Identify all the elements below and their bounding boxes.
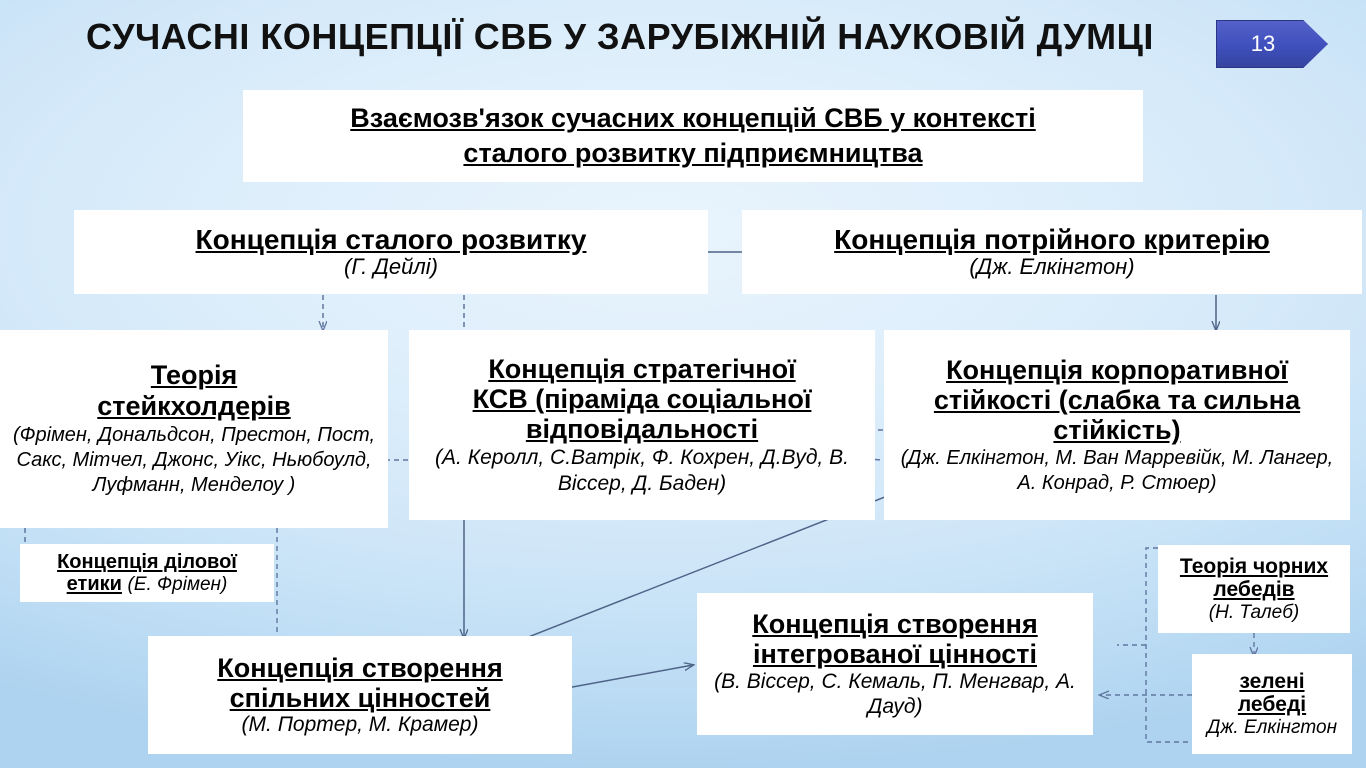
page-number-badge: 13 <box>1216 20 1328 68</box>
node-authors: (Дж. Елкінгтон, М. Ван Марревійк, М. Лан… <box>890 446 1344 495</box>
node-title-line-3: відповідальності <box>526 414 758 444</box>
node-title: Концепція сталого розвитку <box>196 224 587 255</box>
node-title: Концепція потрійного критерію <box>834 224 1270 255</box>
connector-shared-value-to-integrated-value <box>556 665 693 690</box>
node-black-swans[interactable]: Теорія чорних лебедів (Н. Талеб) <box>1158 545 1350 633</box>
node-authors: (Дж. Елкінгтон) <box>969 255 1134 280</box>
node-green-swans[interactable]: зелені лебеді Дж. Елкінгтон <box>1192 654 1352 754</box>
node-stakeholder-theory[interactable]: Теорія стейкхолдерів (Фрімен, Дональдсон… <box>0 330 388 528</box>
node-title-line-1: Концепція створення <box>217 653 502 683</box>
node-title-line-2: спільних цінностей <box>230 683 491 713</box>
subtitle-line-2: сталого розвитку підприємництва <box>463 136 922 171</box>
node-title-line-1: Концепція корпоративної <box>946 355 1288 385</box>
node-authors: (Г. Дейлі) <box>344 255 438 280</box>
subtitle-banner: Взаємозв'язок сучасних концепцій СВБ у к… <box>243 90 1143 182</box>
node-shared-value[interactable]: Концепція створення спільних цінностей (… <box>148 636 572 754</box>
node-title-line-1: зелені <box>1239 670 1304 694</box>
node-authors: (М. Портер, М. Крамер) <box>242 713 479 737</box>
node-authors: (Н. Талеб) <box>1209 602 1299 623</box>
page-number-label: 13 <box>1251 31 1275 57</box>
node-authors: (В. Віссер, С. Кемаль, П. Менгвар, А. Да… <box>703 669 1087 719</box>
node-title-line-2: КСВ (піраміда соціальної <box>473 384 812 414</box>
node-business-ethics[interactable]: Концепція ділової етики (Е. Фрімен) <box>20 544 274 602</box>
node-title-line-2: лебедів <box>1213 578 1294 602</box>
node-authors: (Фрімен, Дональдсон, Престон, Пост, Сакс… <box>6 423 382 498</box>
node-triple-bottom-line[interactable]: Концепція потрійного критерію (Дж. Елкін… <box>742 210 1362 294</box>
node-title-line-1: Концепція створення <box>752 609 1037 639</box>
node-title-line-2: інтегрованої цінності <box>753 639 1037 669</box>
node-title-line-2-row: етики (Е. Фрімен) <box>67 573 228 595</box>
node-integrated-value[interactable]: Концепція створення інтегрованої цінност… <box>697 593 1093 735</box>
node-title-line-2: лебеді <box>1238 693 1306 717</box>
node-title-line-1: Теорія чорних <box>1180 555 1328 579</box>
node-title-line-1: Теорія <box>151 360 237 390</box>
node-authors: Дж. Елкінгтон <box>1207 717 1337 738</box>
node-title-line-2: етики <box>67 573 122 595</box>
node-corporate-sustainability[interactable]: Концепція корпоративної стійкості (слабк… <box>884 330 1350 520</box>
node-title-line-2: стейкхолдерів <box>97 391 290 421</box>
node-authors: (А. Керолл, С.Ватрік, Ф. Кохрен, Д.Вуд, … <box>415 445 869 496</box>
node-title-line-1: Концепція стратегічної <box>488 354 795 384</box>
node-title-line-1: Концепція ділової <box>57 551 237 573</box>
slide-canvas: СУЧАСНІ КОНЦЕПЦІЇ СВБ У ЗАРУБІЖНІЙ НАУКО… <box>0 0 1366 768</box>
subtitle-line-1: Взаємозв'язок сучасних концепцій СВБ у к… <box>350 101 1035 136</box>
page-title: СУЧАСНІ КОНЦЕПЦІЇ СВБ У ЗАРУБІЖНІЙ НАУКО… <box>60 8 1180 66</box>
node-title-line-2: стійкості (слабка та сильна <box>934 385 1300 415</box>
node-strategic-csr[interactable]: Концепція стратегічної КСВ (піраміда соц… <box>409 330 875 520</box>
node-title-line-3: стійкість) <box>1053 415 1180 445</box>
node-sustainable-development[interactable]: Концепція сталого розвитку (Г. Дейлі) <box>74 210 708 294</box>
node-authors: (Е. Фрімен) <box>128 574 228 595</box>
